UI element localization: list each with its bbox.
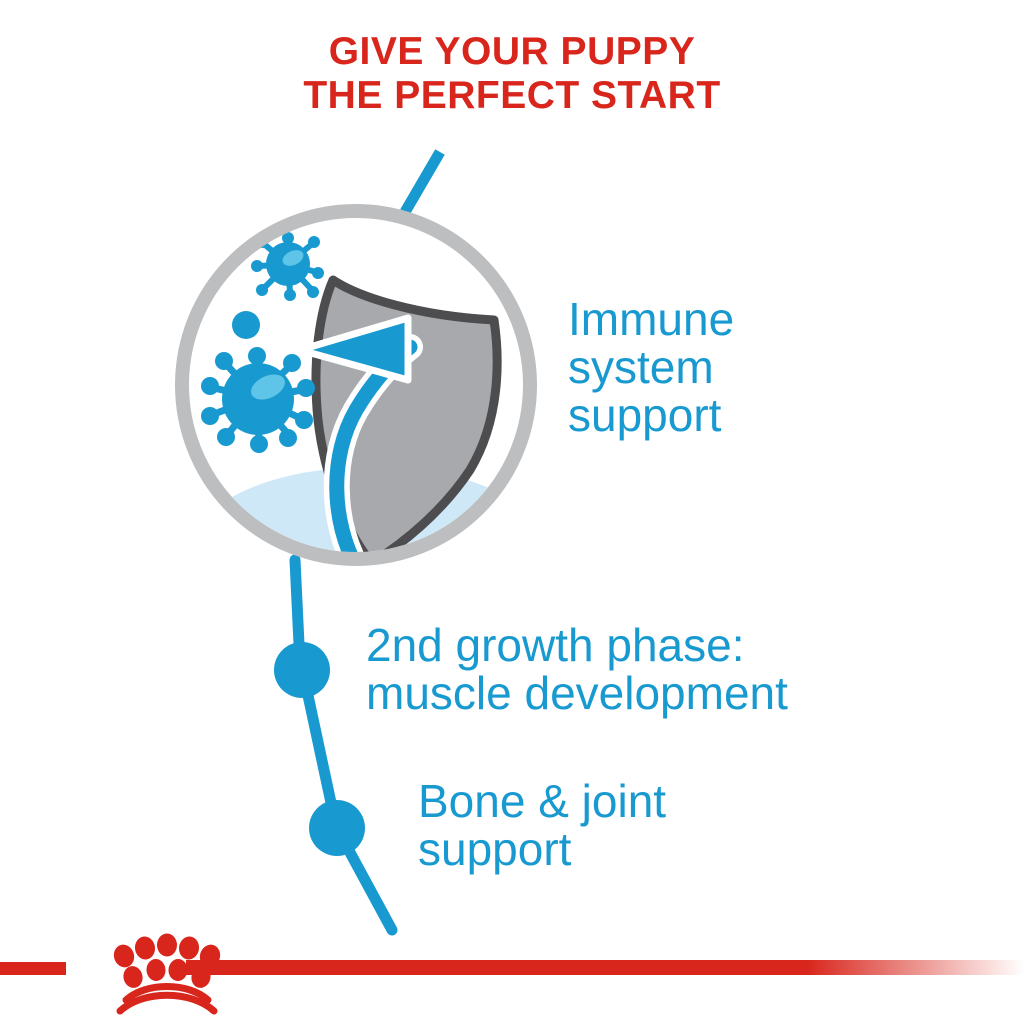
feature-immune-line-1: Immune	[568, 296, 734, 344]
feature-growth-line-2: muscle development	[366, 670, 788, 718]
feature-growth-line-1: 2nd growth phase:	[366, 622, 788, 670]
footer-bar-right	[186, 960, 1024, 975]
connector-stub-top	[405, 152, 440, 212]
feature-immune-line-2: system	[568, 344, 734, 392]
feature-label-growth: 2nd growth phase: muscle development	[366, 622, 788, 718]
footer-bar-left	[0, 962, 66, 975]
feature-label-immune: Immune system support	[568, 296, 734, 439]
footer-brand-bar	[0, 930, 1024, 1024]
royal-canin-crown-logo	[111, 934, 223, 1012]
virus-icon-large	[201, 347, 315, 453]
poster-canvas: GIVE YOUR PUPPY THE PERFECT START	[0, 0, 1024, 1024]
feature-label-bone: Bone & joint support	[418, 778, 666, 874]
feature-immune-line-3: support	[568, 392, 734, 440]
particle-dot-icon	[232, 311, 260, 339]
feature-bone-line-2: support	[418, 826, 666, 874]
node-dot-icon-bone	[309, 800, 365, 856]
feature-bone-line-1: Bone & joint	[418, 778, 666, 826]
immune-illustration-group	[182, 211, 545, 623]
node-dot-icon-growth	[274, 642, 330, 698]
